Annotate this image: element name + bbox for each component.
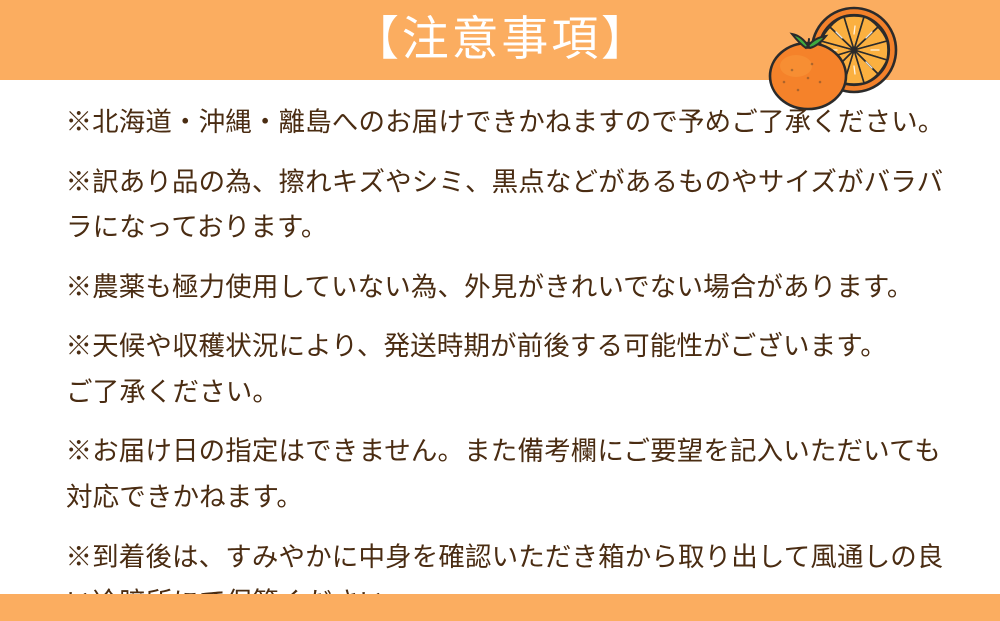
notice-item: ※天候や収穫状況により、発送時期が前後する可能性がございます。 ご了承ください。 [66,324,946,415]
notice-page: 【注意事項】 [0,0,1000,621]
notice-item: ※北海道・沖縄・離島へのお届けできかねますので予めご了承ください。 [66,100,946,146]
footer-band [0,594,1000,621]
notice-list: ※北海道・沖縄・離島へのお届けできかねますので予めご了承ください。 ※訳あり品の… [66,100,946,621]
notice-item: ※農薬も極力使用していない為、外見がきれいでない場合があります。 [66,265,946,311]
notice-item: ※お届け日の指定はできません。また備考欄にご要望を記入いただいても対応できかねま… [66,429,946,520]
orange-fruit-icon [768,4,904,112]
notice-item: ※訳あり品の為、擦れキズやシミ、黒点などがあるものやサイズがバラバラになっており… [66,160,946,251]
